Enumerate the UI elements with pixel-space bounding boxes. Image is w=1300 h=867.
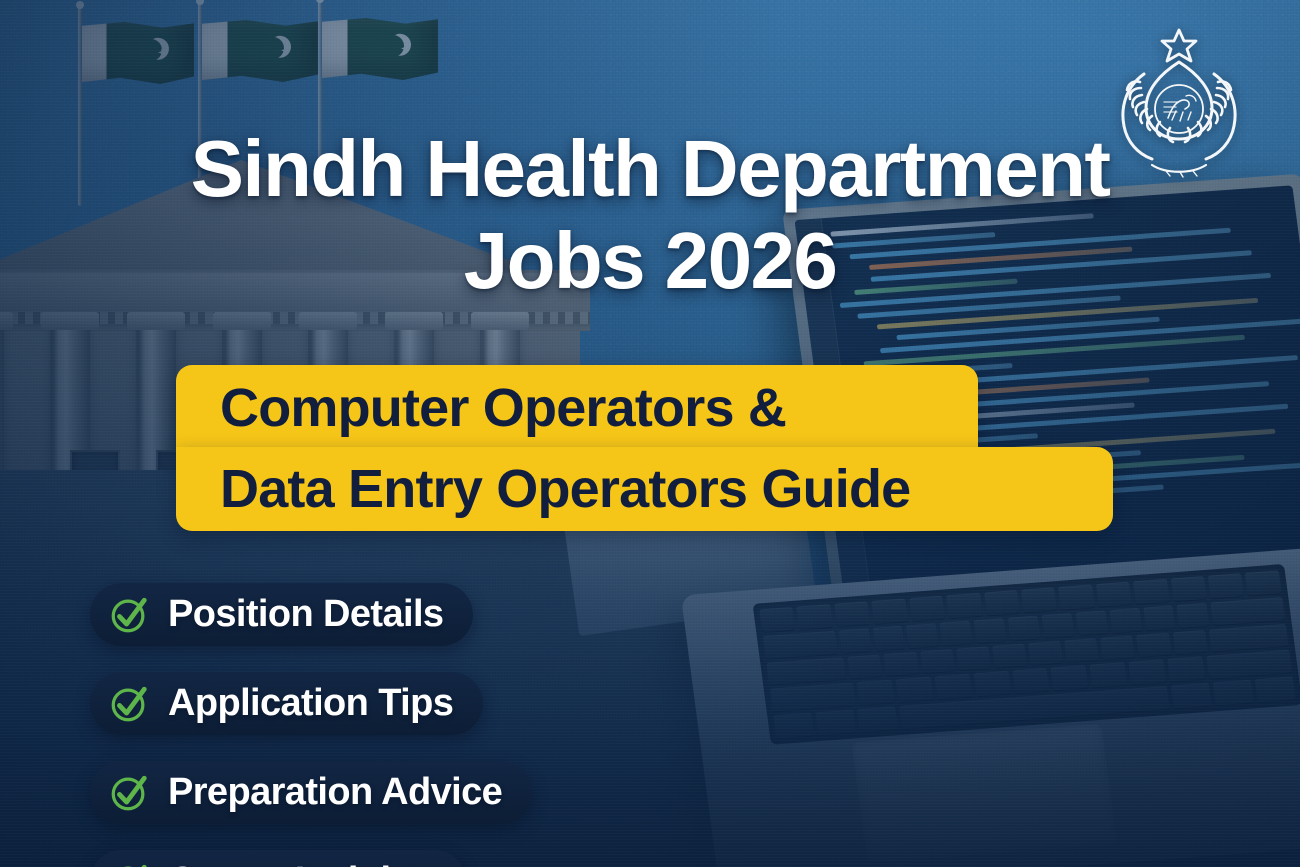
bullet-label: Application Tips [168, 682, 453, 725]
bullet-item-preparation-advice: Preparation Advice [90, 761, 532, 824]
bullet-item-application-tips: Application Tips [90, 672, 483, 735]
bullet-item-position-details: Position Details [90, 583, 473, 646]
bullet-label: Career Insights [168, 860, 436, 867]
poster-canvas: Sindh Health Department Jobs 2026 Comput… [0, 0, 1300, 867]
check-circle-icon [108, 772, 150, 814]
title-line-1: Sindh Health Department [40, 130, 1260, 208]
bullet-list: Position Details Application Tips Prepar… [90, 583, 532, 867]
bullet-label: Preparation Advice [168, 771, 502, 814]
title-line-2: Jobs 2026 [40, 222, 1260, 300]
check-circle-icon [108, 594, 150, 636]
subtitle-banner-line-2: Data Entry Operators Guide [176, 447, 1113, 531]
check-circle-icon [108, 861, 150, 867]
check-circle-icon [108, 683, 150, 725]
poster-title: Sindh Health Department Jobs 2026 [0, 130, 1300, 299]
bullet-label: Position Details [168, 593, 443, 636]
bullet-item-career-insights: Career Insights [90, 850, 466, 867]
subtitle-banner-line-1: Computer Operators & [176, 365, 978, 451]
